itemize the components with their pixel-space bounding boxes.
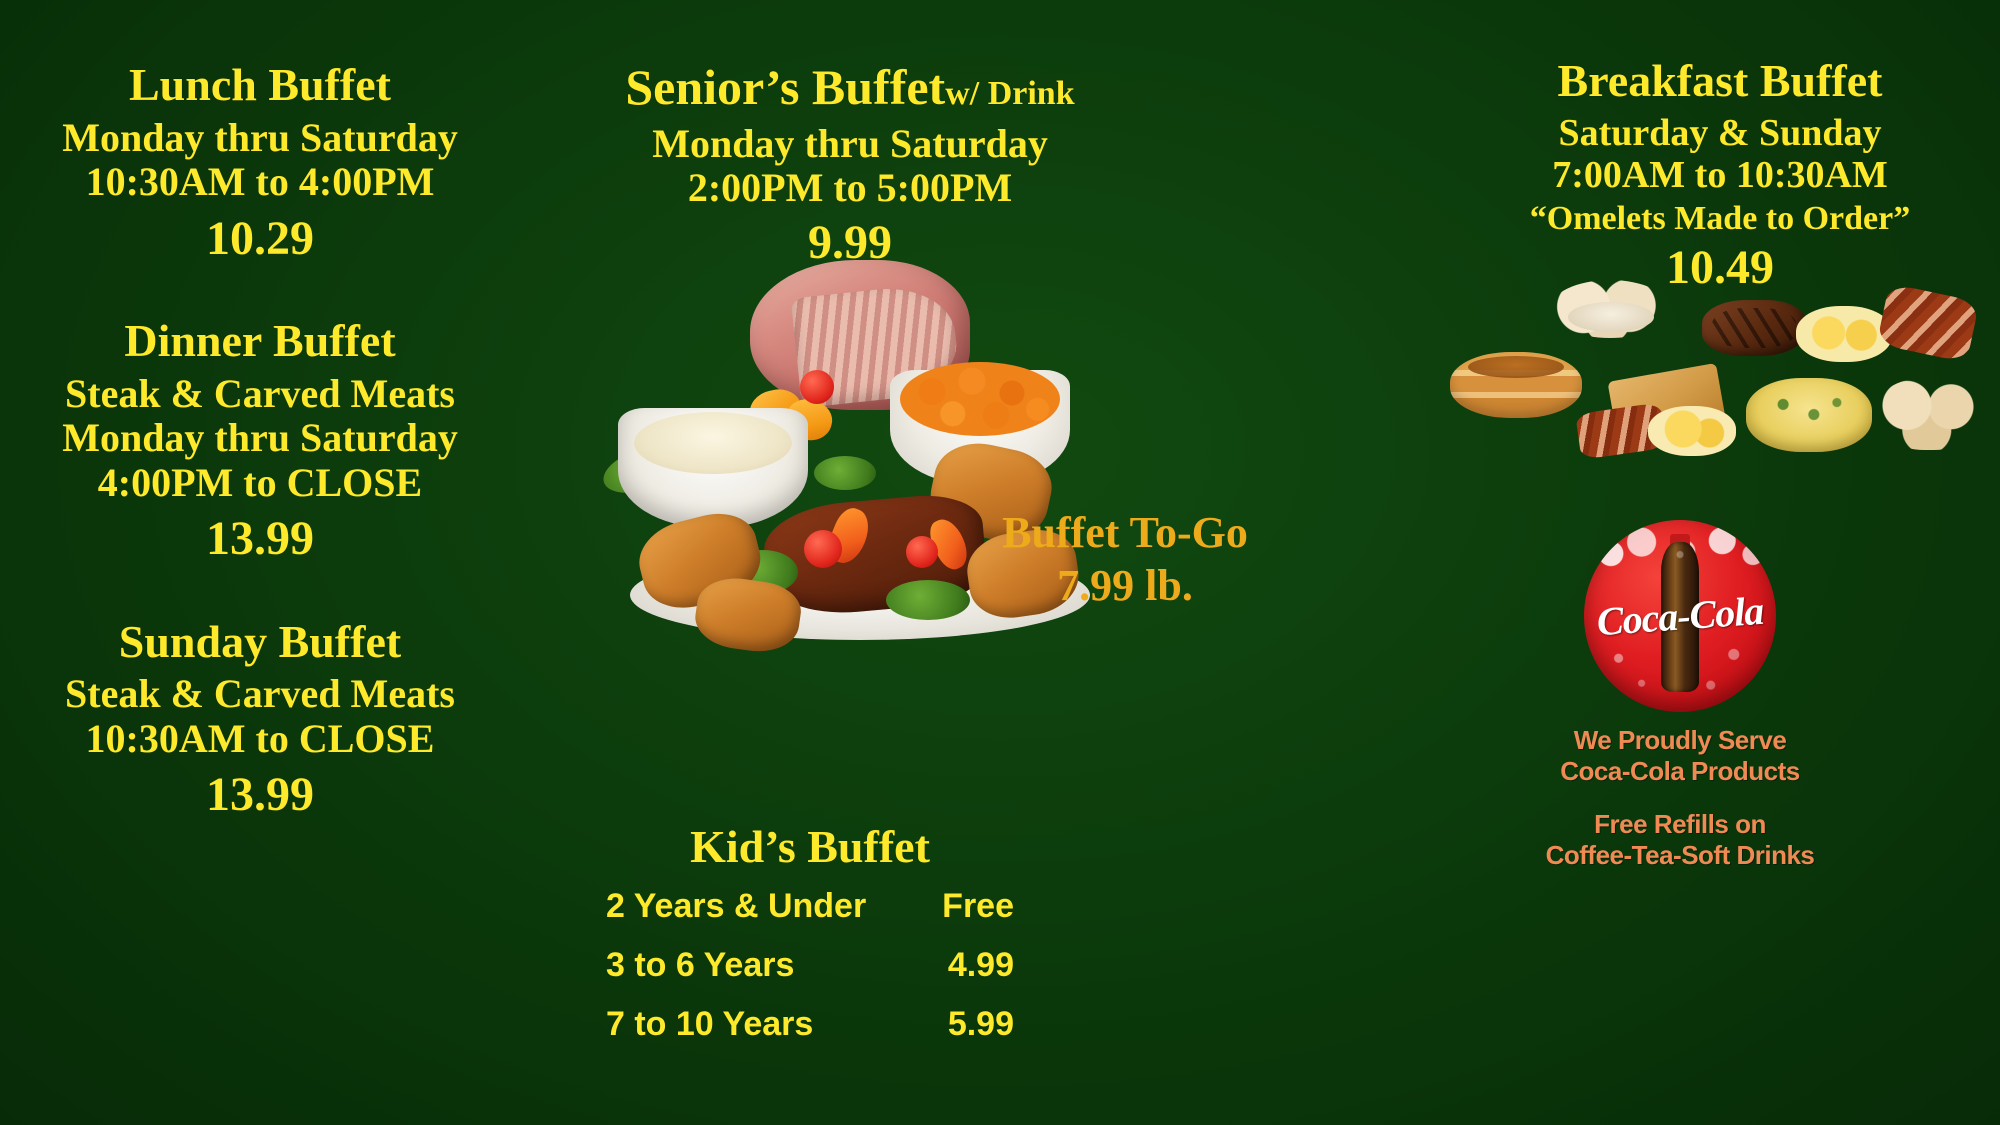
herb-garnish-shape [814,456,876,490]
tomato-shape [804,530,842,568]
sunday-buffet-hours: 10:30AM to CLOSE [0,718,520,760]
scrambled-eggs-shape [1796,306,1892,362]
breakfast-foods-image [1450,280,1980,480]
buffet-to-go-block: Buffet To-Go 7.99 lb. [960,510,1290,611]
breakfast-buffet-hours: 7:00AM to 10:30AM [1440,155,2000,195]
dinner-buffet-features: Steak & Carved Meats [0,373,520,415]
tomato-shape [800,370,834,404]
lettuce-garnish-shape [886,580,970,620]
sunday-buffet-block: Sunday Buffet Steak & Carved Meats 10:30… [0,619,520,821]
bacon-strips-shape [1877,283,1980,363]
biscuits-shape [1874,378,1984,450]
dinner-buffet-heading: Dinner Buffet [0,318,520,365]
senior-buffet-days: Monday thru Saturday [520,123,1180,165]
lunch-buffet-block: Lunch Buffet Monday thru Saturday 10:30A… [0,62,520,264]
coke-proudly-serve-line1: We Proudly Serve [1530,726,1830,755]
sunday-buffet-features: Steak & Carved Meats [0,673,520,715]
menu-board: Lunch Buffet Monday thru Saturday 10:30A… [0,0,2000,1125]
kids-price-value: 5.99 [924,1005,1014,1044]
kids-age-label: 2 Years & Under [606,887,866,926]
dinner-buffet-block: Dinner Buffet Steak & Carved Meats Monda… [0,318,520,564]
buffet-to-go-heading: Buffet To-Go [960,510,1290,556]
steak-grill-marks-shape [1712,308,1796,348]
mashed-potatoes-shape [634,412,792,474]
kids-age-label: 7 to 10 Years [606,1005,813,1044]
sunday-buffet-price: 13.99 [0,770,520,820]
kids-buffet-row: 7 to 10 Years 5.99 [600,1005,1020,1044]
kids-age-label: 3 to 6 Years [606,946,794,985]
dinner-buffet-price: 13.99 [0,514,520,564]
kids-buffet-row: 3 to 6 Years 4.99 [600,946,1020,985]
coke-free-refills-line1: Free Refills on [1530,810,1830,839]
center-column: Senior’s Buffetw/ Drink Monday thru Satu… [520,0,1180,268]
syrup-shape [1468,356,1564,378]
kids-buffet-rows: 2 Years & Under Free 3 to 6 Years 4.99 7… [600,887,1020,1044]
lunch-buffet-price: 10.29 [0,214,520,264]
right-column: Breakfast Buffet Saturday & Sunday 7:00A… [1440,0,2000,294]
lunch-buffet-hours: 10:30AM to 4:00PM [0,161,520,203]
senior-buffet-hours: 2:00PM to 5:00PM [520,167,1180,209]
kids-price-value: 4.99 [924,946,1014,985]
dinner-buffet-hours: 4:00PM to CLOSE [0,462,520,504]
scrambled-eggs-shape [1648,406,1736,456]
breakfast-buffet-block: Breakfast Buffet Saturday & Sunday 7:00A… [1440,58,2000,294]
tomato-shape [906,536,938,568]
sunday-buffet-heading: Sunday Buffet [0,619,520,666]
coke-free-refills-line2: Coffee-Tea-Soft Drinks [1530,841,1830,870]
breakfast-buffet-note: “Omelets Made to Order” [1440,201,2000,237]
breakfast-buffet-heading: Breakfast Buffet [1440,58,2000,105]
dinner-buffet-days: Monday thru Saturday [0,417,520,459]
kids-buffet-heading: Kid’s Buffet [600,820,1020,873]
breakfast-buffet-days: Saturday & Sunday [1440,113,2000,153]
senior-buffet-heading: Senior’s Buffetw/ Drink [520,62,1180,113]
lunch-buffet-days: Monday thru Saturday [0,117,520,159]
casserole-herbs-shape [1762,386,1858,432]
lunch-buffet-heading: Lunch Buffet [0,62,520,109]
coca-cola-logo-icon: Coca-Cola [1584,520,1776,712]
coke-proudly-serve-line2: Coca-Cola Products [1530,757,1830,786]
coca-cola-block: Coca-Cola We Proudly Serve Coca-Cola Pro… [1530,520,1830,870]
carrots-shape [900,362,1060,436]
sausage-gravy-shape [1568,302,1654,332]
kids-buffet-block: Kid’s Buffet 2 Years & Under Free 3 to 6… [600,820,1020,1064]
kids-price-value: Free [924,887,1014,926]
senior-buffet-heading-main: Senior’s Buffet [625,59,945,115]
senior-buffet-block: Senior’s Buffetw/ Drink Monday thru Satu… [520,62,1180,268]
buffet-to-go-price: 7.99 lb. [960,562,1290,610]
senior-buffet-heading-sub: w/ Drink [945,75,1074,112]
kids-buffet-row: 2 Years & Under Free [600,887,1020,926]
left-column: Lunch Buffet Monday thru Saturday 10:30A… [0,0,520,821]
